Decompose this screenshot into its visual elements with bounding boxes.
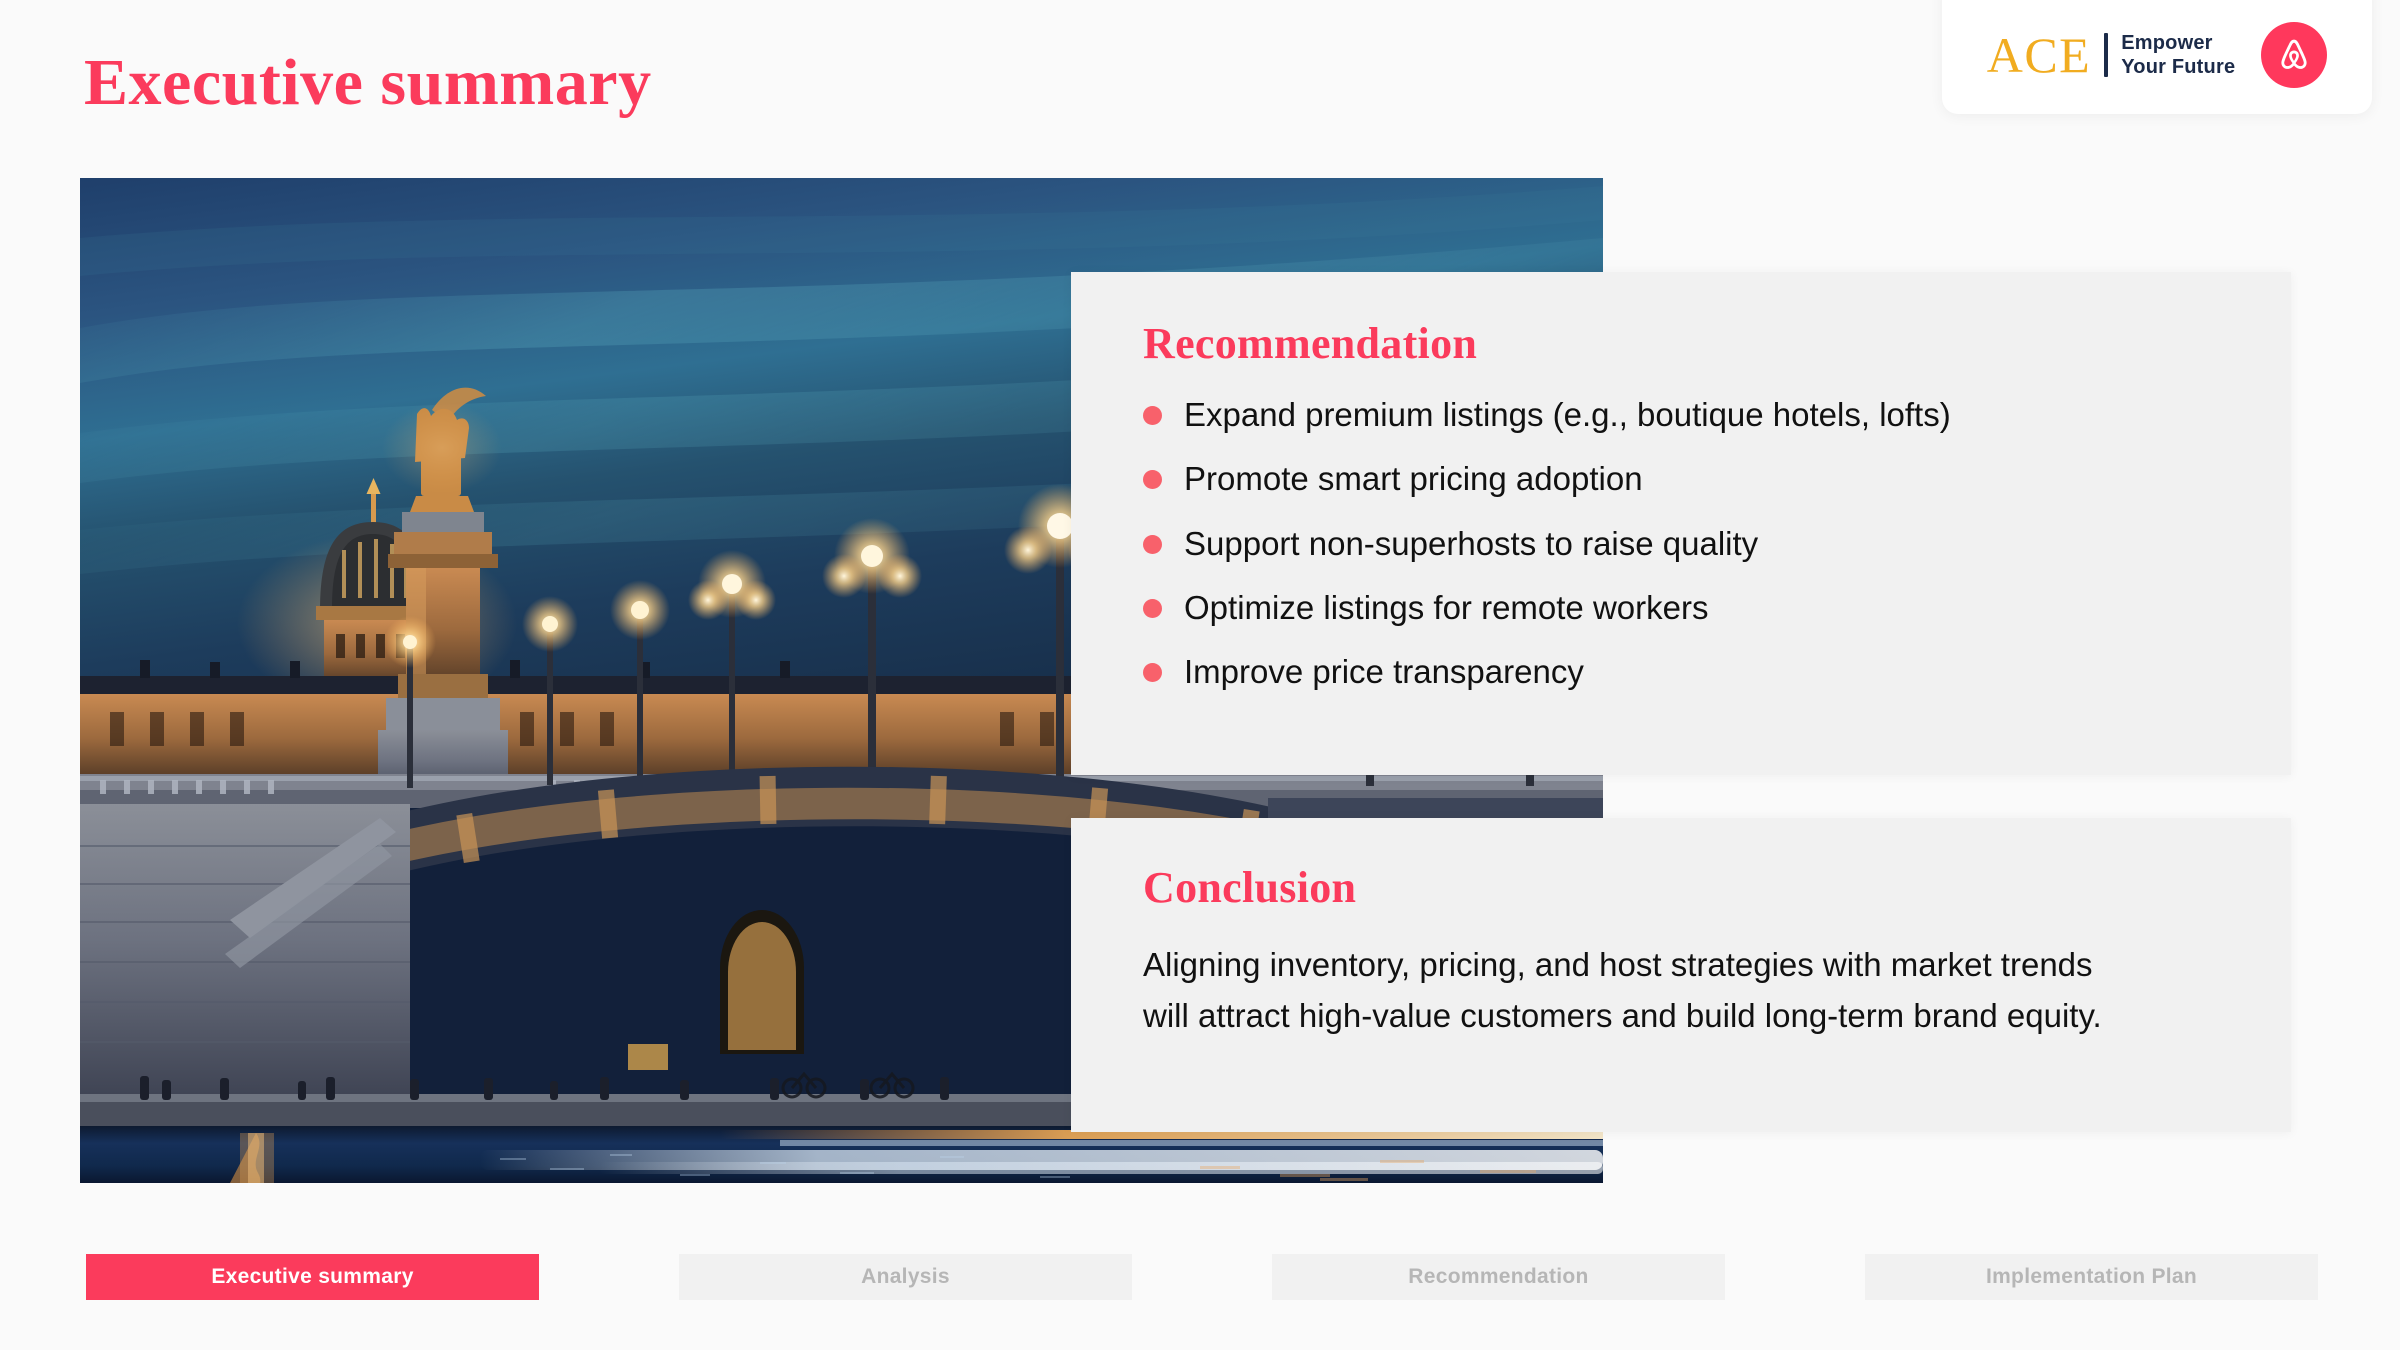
brand-tagline-line2: Your Future: [2121, 56, 2235, 78]
bullet-dot-icon: [1143, 470, 1162, 489]
tab-executive-summary[interactable]: Executive summary: [86, 1254, 539, 1300]
section-tabbar: Executive summary Analysis Recommendatio…: [86, 1254, 2318, 1300]
list-item: Support non-superhosts to raise quality: [1143, 524, 2237, 564]
list-item-label: Support non-superhosts to raise quality: [1184, 524, 1758, 564]
list-item: Promote smart pricing adoption: [1143, 459, 2237, 499]
brand-tagline: Empower Your Future: [2121, 31, 2235, 80]
list-item-label: Improve price transparency: [1184, 652, 1584, 692]
bullet-dot-icon: [1143, 599, 1162, 618]
brand-name: ACE: [1987, 30, 2092, 80]
conclusion-body: Aligning inventory, pricing, and host st…: [1143, 939, 2143, 1042]
tab-analysis[interactable]: Analysis: [679, 1254, 1132, 1300]
recommendation-heading: Recommendation: [1143, 318, 2237, 369]
brand-logo-card: ACE Empower Your Future: [1942, 0, 2372, 114]
bullet-dot-icon: [1143, 663, 1162, 682]
recommendation-card: Recommendation Expand premium listings (…: [1071, 272, 2291, 775]
list-item-label: Expand premium listings (e.g., boutique …: [1184, 395, 1951, 435]
list-item-label: Promote smart pricing adoption: [1184, 459, 1643, 499]
list-item: Optimize listings for remote workers: [1143, 588, 2237, 628]
brand-divider-icon: [2104, 33, 2108, 77]
list-item-label: Optimize listings for remote workers: [1184, 588, 1708, 628]
bullet-dot-icon: [1143, 535, 1162, 554]
conclusion-heading: Conclusion: [1143, 862, 2231, 913]
airbnb-belo-icon: [2261, 22, 2327, 88]
tab-implementation-plan[interactable]: Implementation Plan: [1865, 1254, 2318, 1300]
page-title: Executive summary: [84, 45, 652, 121]
brand-lockup: ACE Empower Your Future: [1987, 30, 2236, 80]
tab-recommendation[interactable]: Recommendation: [1272, 1254, 1725, 1300]
list-item: Improve price transparency: [1143, 652, 2237, 692]
brand-tagline-line1: Empower: [2121, 32, 2212, 54]
recommendation-bullet-list: Expand premium listings (e.g., boutique …: [1143, 395, 2237, 692]
list-item: Expand premium listings (e.g., boutique …: [1143, 395, 2237, 435]
conclusion-card: Conclusion Aligning inventory, pricing, …: [1071, 818, 2291, 1132]
bullet-dot-icon: [1143, 406, 1162, 425]
